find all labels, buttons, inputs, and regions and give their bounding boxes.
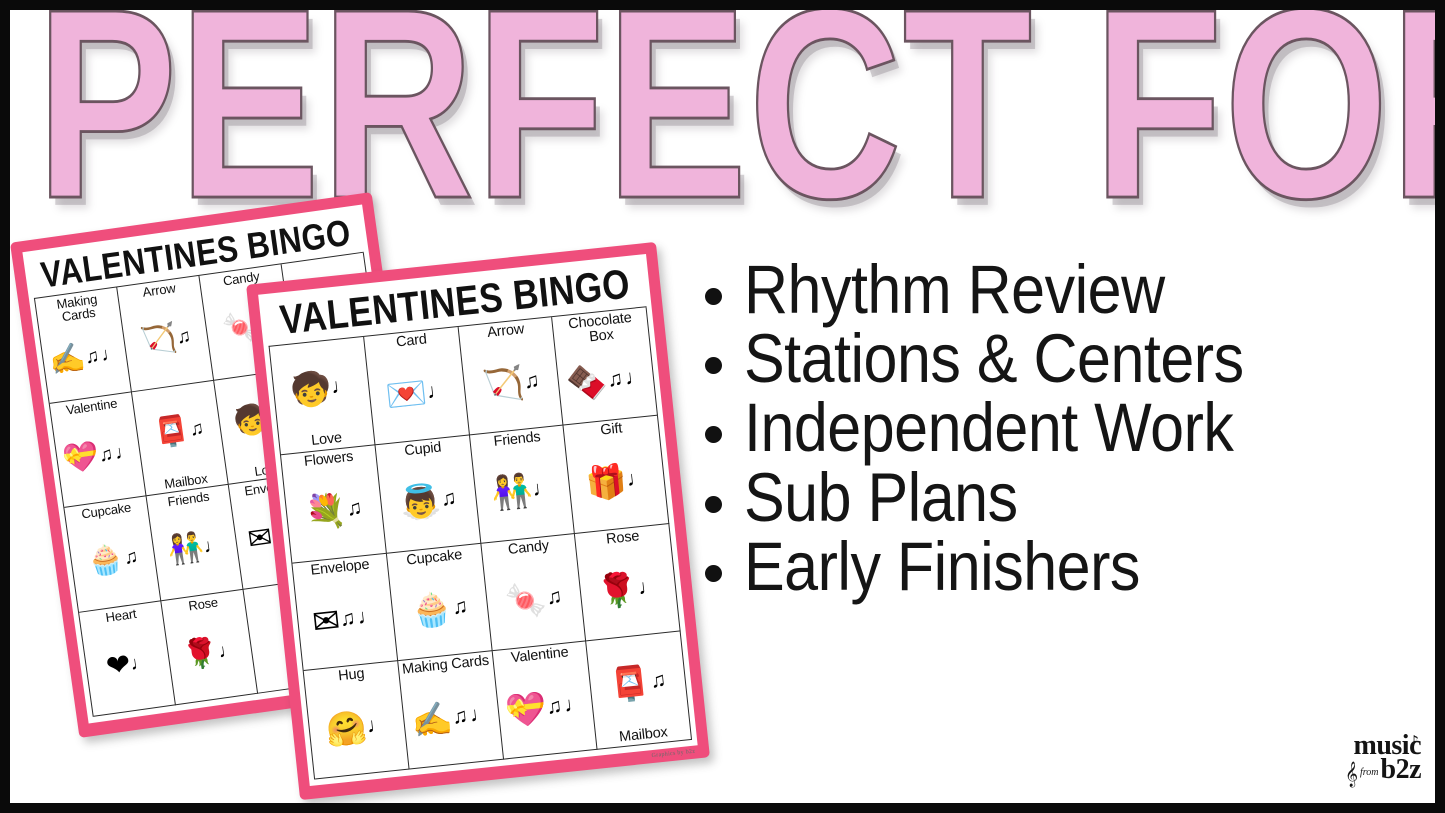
bingo-cell-art: 🧒♩ (273, 339, 370, 437)
bullet-label: Independent Work (744, 393, 1233, 463)
bingo-cell: 🧒♩Love (270, 337, 376, 455)
bingo-cell: Arrow🏹♫ (458, 317, 564, 435)
treble-clef-icon: 𝄞 (1345, 766, 1358, 785)
rhythm-notation: ♩ (531, 477, 554, 500)
rhythm-notation: ♩ (330, 375, 353, 398)
rose-icon: 🌹 (181, 638, 221, 672)
bingo-cell: Making Cards✍♫♩ (398, 651, 504, 769)
beamed-eighth-notes-icon: ♫ (98, 444, 115, 465)
brand-watermark: ♪ music 𝄞 from b2z (1303, 735, 1421, 791)
quarter-note-icon: ♩ (330, 375, 353, 398)
chocolate-box-icon: 🍫 (565, 364, 609, 401)
girl-holding-heart-icon: 🧒 (289, 371, 333, 408)
two-kids-heart-icon: 👫 (490, 474, 534, 511)
bullet-dot-icon (705, 496, 722, 513)
beamed-eighth-notes-icon: ♫ (175, 327, 192, 348)
bullet-item: Independent Work (705, 400, 1435, 462)
beamed-eighth-notes-icon: ♫ (523, 369, 541, 392)
bingo-cell: 📮♫Mailbox (586, 632, 692, 750)
bingo-cell-art: 📮♫ (135, 383, 222, 480)
bingo-cell-art: 💝♫♩ (55, 407, 142, 504)
bingo-cell-art: ✍♫♩ (42, 316, 128, 400)
beamed-eighth-notes-icon: ♫ (451, 596, 469, 619)
quarter-note-icon: ♩ (129, 652, 150, 673)
gift-box-icon: 🎁 (584, 464, 628, 501)
bingo-cell: Valentine💝♫♩ (492, 642, 598, 760)
bingo-cell: Arrow🏹♫ (117, 276, 214, 392)
beamed-eighth-notes-icon: ♫ (346, 497, 364, 520)
greeting-card-icon: 💌 (384, 375, 428, 412)
rhythm-notation: ♩ (426, 379, 449, 402)
rhythm-notation: ♫♩ (451, 703, 492, 728)
rhythm-notation: ♫ (123, 547, 140, 568)
envelope-icon: ✉ (311, 603, 342, 639)
bingo-cell: Cupcake🧁♫ (64, 496, 161, 612)
lace-heart-icon: 💝 (61, 441, 101, 475)
quarter-note-icon: ♩ (356, 605, 379, 628)
quarter-note-icon: ♩ (563, 693, 586, 716)
bullet-dot-icon (705, 565, 722, 582)
quarter-note-icon: ♩ (100, 343, 121, 364)
rhythm-notation: ♫♩ (98, 441, 136, 465)
bingo-cell: Friends👫♩ (147, 485, 244, 601)
flower-bouquet-icon: 💐 (304, 493, 348, 530)
beamed-eighth-notes-icon: ♫ (451, 705, 469, 728)
headline-text: PERFECT FOR... (36, 0, 1445, 230)
bingo-card-front-grid: 🧒♩LoveCard💌♩Arrow🏹♫Chocolate Box🍫♫♩Flowe… (269, 306, 692, 779)
heart-arrow-icon: 🏹 (139, 324, 179, 358)
watermark-b2z-text: b2z (1381, 758, 1422, 782)
quarter-note-icon: ♩ (366, 713, 389, 736)
beamed-eighth-notes-icon: ♫ (188, 419, 205, 440)
bingo-cell: 📮♫Mailbox (132, 380, 229, 496)
quarter-note-icon: ♩ (114, 441, 135, 462)
bingo-cell-art: 🌹♩ (166, 605, 253, 702)
bingo-cell-art: 🧁♫ (391, 560, 488, 658)
rhythm-notation: ♩ (637, 576, 660, 599)
bullet-label: Early Finishers (744, 531, 1140, 601)
mailbox-icon: 📮 (152, 416, 192, 450)
rhythm-notation: ♫♩ (339, 605, 380, 630)
bingo-cell: Heart❤♩ (79, 601, 176, 717)
bingo-card-front-inner: VALENTINES BINGO 🧒♩LoveCard💌♩Arrow🏹♫Choc… (258, 254, 698, 786)
cupid-icon: 👼 (398, 483, 442, 520)
quarter-note-icon: ♩ (637, 576, 660, 599)
quarter-note-icon: ♩ (624, 366, 647, 389)
bingo-cell: Card💌♩ (364, 327, 470, 445)
bullet-item: Sub Plans (705, 470, 1435, 532)
bullet-item: Rhythm Review (705, 262, 1435, 324)
two-kids-heart-icon: 👫 (166, 533, 206, 567)
quarter-note-icon: ♩ (217, 640, 238, 661)
bullet-dot-icon (705, 426, 722, 443)
bingo-cell: Rose🌹♩ (575, 524, 681, 642)
bingo-cell: Valentine💝♫♩ (50, 392, 147, 508)
rhythm-notation: ♩ (626, 467, 649, 490)
bingo-cell-art: 👼♫ (380, 452, 477, 550)
rhythm-notation: ♫ (451, 596, 469, 619)
beamed-eighth-notes-icon: ♫ (84, 346, 101, 367)
heart-arrow-icon: 🏹 (481, 365, 525, 402)
bingo-cell-art: 👫♩ (474, 442, 571, 540)
bullet-label: Sub Plans (744, 462, 1018, 532)
bingo-cell: Envelope✉♫♩ (292, 553, 398, 671)
bingo-cell: Candy🍬♫ (481, 533, 587, 651)
feature-bullet-list: Rhythm ReviewStations & CentersIndepende… (705, 262, 1435, 608)
quarter-note-icon: ♩ (426, 379, 449, 402)
bingo-cell-art: 🍫♫♩ (559, 338, 654, 422)
quarter-note-icon: ♩ (203, 536, 224, 557)
beamed-eighth-notes-icon: ♫ (440, 488, 458, 511)
bullet-dot-icon (705, 357, 722, 374)
bingo-cell-art: 🧁♫ (69, 512, 156, 609)
rhythm-notation: ♫ (175, 327, 192, 348)
slide-canvas: PERFECT FOR... Rhythm ReviewStations & C… (0, 0, 1445, 813)
rhythm-notation: ♫ (545, 586, 563, 609)
bingo-cell-art: 💐♫ (286, 462, 383, 560)
cupcake-icon: 🧁 (410, 591, 454, 628)
quarter-note-icon: ♩ (626, 467, 649, 490)
music-note-icon: ♪ (1409, 732, 1419, 750)
lace-heart-icon: 💝 (504, 691, 548, 728)
quarter-note-icon: ♩ (531, 477, 554, 500)
bullet-dot-icon (705, 288, 722, 305)
bullet-item: Early Finishers (705, 539, 1435, 601)
rhythm-notation: ♫♩ (545, 693, 586, 718)
bingo-cell-art: ✉♫♩ (297, 570, 394, 668)
page-title: PERFECT FOR... (32, 12, 1422, 208)
bingo-cell-art: 🤗♩ (308, 678, 405, 776)
cupcake-icon: 🧁 (86, 544, 126, 578)
bingo-cell-art: ✍♫♩ (403, 668, 500, 766)
bullet-item: Stations & Centers (705, 331, 1435, 393)
bingo-cell-art: 📮♫ (590, 634, 687, 732)
kid-making-cards-icon: ✍ (47, 343, 87, 377)
bingo-cell-art: 💝♫♩ (497, 658, 594, 756)
bingo-cell: Friends👫♩ (469, 425, 575, 543)
beamed-eighth-notes-icon: ♫ (649, 670, 667, 693)
rhythm-notation: ♩ (217, 640, 238, 661)
bingo-cell: Chocolate Box🍫♫♩ (552, 307, 658, 425)
rhythm-notation: ♫ (188, 419, 205, 440)
bingo-cell-art: 👫♩ (152, 500, 239, 597)
bingo-cell: Cupcake🧁♫ (387, 543, 493, 661)
bingo-cell: Flowers💐♫ (281, 445, 387, 563)
watermark-line-from-b2z: 𝄞 from b2z (1303, 758, 1421, 782)
rhythm-notation: ♫ (346, 497, 364, 520)
bingo-cell-art: 🏹♫ (463, 334, 560, 432)
bingo-cell-art: 🏹♫ (122, 291, 209, 388)
bingo-cell-art: 🍬♫ (486, 550, 583, 648)
rhythm-notation: ♫ (649, 670, 667, 693)
bullet-label: Stations & Centers (744, 324, 1244, 394)
hug-icon: 🤗 (324, 710, 368, 747)
rhythm-notation: ♫♩ (84, 343, 122, 367)
candy-box-icon: 🍬 (504, 581, 548, 618)
beamed-eighth-notes-icon: ♫ (545, 586, 563, 609)
rose-icon: 🌹 (595, 572, 639, 609)
bingo-cell: Making Cards✍♫♩ (35, 287, 132, 403)
bingo-cell: Cupid👼♫ (375, 435, 481, 553)
bingo-cell: Hug🤗♩ (304, 661, 410, 779)
bingo-cell-art: 🌹♩ (580, 540, 677, 638)
rhythm-notation: ♩ (129, 652, 150, 673)
bingo-cell: Gift🎁♩ (564, 415, 670, 533)
rhythm-notation: ♩ (366, 713, 389, 736)
bingo-cell-art: 🎁♩ (568, 432, 665, 530)
bingo-cell: Rose🌹♩ (161, 589, 258, 705)
watermark-from-text: from (1360, 769, 1379, 778)
bingo-card-credit: Graphics by b2z (651, 749, 695, 760)
beamed-eighth-notes-icon: ♫ (545, 695, 563, 718)
beamed-eighth-notes-icon: ♫ (123, 547, 140, 568)
mailbox-icon: 📮 (608, 665, 652, 702)
bingo-card-front: VALENTINES BINGO 🧒♩LoveCard💌♩Arrow🏹♫Choc… (246, 242, 710, 800)
kid-making-cards-icon: ✍ (410, 701, 454, 738)
bullet-label: Rhythm Review (744, 255, 1165, 325)
bingo-cell-art: 💌♩ (369, 344, 466, 442)
rhythm-notation: ♫ (440, 488, 458, 511)
rhythm-notation: ♫ (523, 369, 541, 392)
rhythm-notation: ♩ (203, 536, 224, 557)
beamed-eighth-notes-icon: ♫ (339, 608, 357, 631)
rhythm-notation: ♫♩ (606, 366, 647, 391)
beamed-eighth-notes-icon: ♫ (606, 368, 624, 391)
quarter-note-icon: ♩ (469, 703, 492, 726)
bingo-cell-art: ❤♩ (84, 616, 171, 713)
